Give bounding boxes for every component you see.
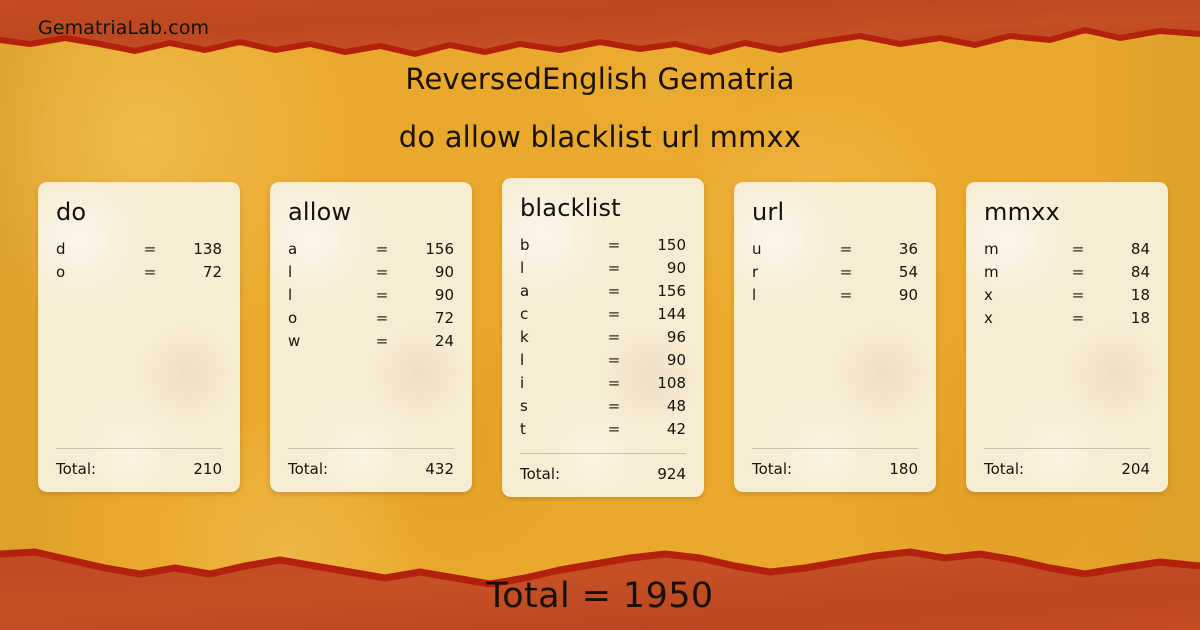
letter-label: w: [288, 332, 360, 350]
letter-value-row: m=84: [984, 240, 1150, 263]
letter-label: i: [520, 374, 592, 392]
word-card-title: allow: [288, 198, 454, 226]
letter-value: 84: [1100, 240, 1150, 258]
letter-value: 90: [404, 286, 454, 304]
equals-sign: =: [1056, 240, 1100, 258]
letter-value-row: l=90: [288, 263, 454, 286]
letter-value: 90: [404, 263, 454, 281]
equals-sign: =: [824, 286, 868, 304]
letter-label: o: [288, 309, 360, 327]
letter-value: 90: [868, 286, 918, 304]
card-total-label: Total:: [752, 460, 792, 478]
letter-value-list: b=150l=90a=156c=144k=96l=90i=108s=48t=42: [520, 236, 686, 443]
equals-sign: =: [592, 236, 636, 254]
letter-label: l: [288, 263, 360, 281]
gematria-infographic: GematriaLab.com ReversedEnglish Gematria…: [0, 0, 1200, 630]
card-total-value: 924: [657, 465, 686, 483]
equals-sign: =: [592, 374, 636, 392]
letter-value: 36: [868, 240, 918, 258]
card-total-row: Total:432: [288, 449, 454, 478]
word-card[interactable]: allowa=156l=90l=90o=72w=24Total:432: [270, 182, 472, 492]
letter-value-row: w=24: [288, 332, 454, 355]
letter-value-row: o=72: [288, 309, 454, 332]
letter-value-row: c=144: [520, 305, 686, 328]
letter-label: l: [520, 259, 592, 277]
equals-sign: =: [824, 263, 868, 281]
equals-sign: =: [360, 286, 404, 304]
letter-value: 72: [404, 309, 454, 327]
word-card-title: url: [752, 198, 918, 226]
letter-value-row: l=90: [288, 286, 454, 309]
letter-label: b: [520, 236, 592, 254]
letter-label: m: [984, 263, 1056, 281]
letter-value: 90: [636, 351, 686, 369]
grand-total: Total = 1950: [0, 576, 1200, 616]
letter-label: x: [984, 309, 1056, 327]
letter-value: 150: [636, 236, 686, 254]
card-total-row: Total:210: [56, 449, 222, 478]
letter-label: t: [520, 420, 592, 438]
card-total-value: 180: [889, 460, 918, 478]
site-name[interactable]: GematriaLab.com: [38, 17, 209, 39]
letter-value-list: a=156l=90l=90o=72w=24: [288, 240, 454, 438]
equals-sign: =: [592, 397, 636, 415]
letter-value: 54: [868, 263, 918, 281]
letter-label: l: [752, 286, 824, 304]
word-card-title: do: [56, 198, 222, 226]
letter-label: a: [288, 240, 360, 258]
letter-value-row: m=84: [984, 263, 1150, 286]
equals-sign: =: [360, 332, 404, 350]
letter-value-row: x=18: [984, 309, 1150, 332]
letter-value-list: u=36r=54l=90: [752, 240, 918, 438]
equals-sign: =: [128, 240, 172, 258]
card-total-value: 432: [425, 460, 454, 478]
letter-label: l: [520, 351, 592, 369]
word-card[interactable]: urlu=36r=54l=90Total:180: [734, 182, 936, 492]
equals-sign: =: [128, 263, 172, 281]
card-total-label: Total:: [56, 460, 96, 478]
letter-value: 48: [636, 397, 686, 415]
letter-value: 144: [636, 305, 686, 323]
equals-sign: =: [1056, 263, 1100, 281]
letter-label: k: [520, 328, 592, 346]
letter-label: x: [984, 286, 1056, 304]
letter-label: u: [752, 240, 824, 258]
letter-label: d: [56, 240, 128, 258]
equals-sign: =: [592, 259, 636, 277]
letter-value-row: o=72: [56, 263, 222, 286]
letter-value: 72: [172, 263, 222, 281]
card-total-label: Total:: [984, 460, 1024, 478]
letter-value: 156: [636, 282, 686, 300]
card-total-row: Total:180: [752, 449, 918, 478]
equals-sign: =: [824, 240, 868, 258]
letter-value: 18: [1100, 286, 1150, 304]
word-card[interactable]: blacklistb=150l=90a=156c=144k=96l=90i=10…: [502, 178, 704, 497]
letter-label: a: [520, 282, 592, 300]
letter-value: 42: [636, 420, 686, 438]
page-subtitle: do allow blacklist url mmxx: [0, 120, 1200, 154]
letter-value: 108: [636, 374, 686, 392]
equals-sign: =: [592, 305, 636, 323]
letter-value: 24: [404, 332, 454, 350]
card-total-label: Total:: [520, 465, 560, 483]
letter-value-row: l=90: [520, 259, 686, 282]
letter-value-row: l=90: [752, 286, 918, 309]
letter-value: 18: [1100, 309, 1150, 327]
letter-value: 138: [172, 240, 222, 258]
letter-value-row: x=18: [984, 286, 1150, 309]
word-card-title: mmxx: [984, 198, 1150, 226]
letter-value: 84: [1100, 263, 1150, 281]
equals-sign: =: [360, 263, 404, 281]
page-title: ReversedEnglish Gematria: [0, 62, 1200, 96]
card-total-value: 210: [193, 460, 222, 478]
word-card-title: blacklist: [520, 194, 686, 222]
letter-value-row: t=42: [520, 420, 686, 443]
word-card[interactable]: dod=138o=72Total:210: [38, 182, 240, 492]
letter-value-row: b=150: [520, 236, 686, 259]
word-cards-container: dod=138o=72Total:210allowa=156l=90l=90o=…: [38, 182, 1168, 497]
equals-sign: =: [592, 351, 636, 369]
letter-label: s: [520, 397, 592, 415]
letter-value-row: l=90: [520, 351, 686, 374]
equals-sign: =: [592, 420, 636, 438]
letter-value-list: d=138o=72: [56, 240, 222, 438]
letter-label: o: [56, 263, 128, 281]
letter-value-row: i=108: [520, 374, 686, 397]
card-total-row: Total:924: [520, 454, 686, 483]
letter-value-row: a=156: [288, 240, 454, 263]
equals-sign: =: [1056, 286, 1100, 304]
card-total-label: Total:: [288, 460, 328, 478]
word-card[interactable]: mmxxm=84m=84x=18x=18Total:204: [966, 182, 1168, 492]
letter-label: m: [984, 240, 1056, 258]
letter-value-row: u=36: [752, 240, 918, 263]
letter-value: 90: [636, 259, 686, 277]
card-total-value: 204: [1121, 460, 1150, 478]
equals-sign: =: [360, 240, 404, 258]
letter-value-list: m=84m=84x=18x=18: [984, 240, 1150, 438]
equals-sign: =: [592, 328, 636, 346]
letter-label: c: [520, 305, 592, 323]
equals-sign: =: [1056, 309, 1100, 327]
letter-value-row: d=138: [56, 240, 222, 263]
letter-value: 156: [404, 240, 454, 258]
equals-sign: =: [360, 309, 404, 327]
letter-value-row: s=48: [520, 397, 686, 420]
card-total-row: Total:204: [984, 449, 1150, 478]
letter-value-row: r=54: [752, 263, 918, 286]
letter-label: l: [288, 286, 360, 304]
letter-label: r: [752, 263, 824, 281]
letter-value-row: a=156: [520, 282, 686, 305]
letter-value: 96: [636, 328, 686, 346]
equals-sign: =: [592, 282, 636, 300]
letter-value-row: k=96: [520, 328, 686, 351]
